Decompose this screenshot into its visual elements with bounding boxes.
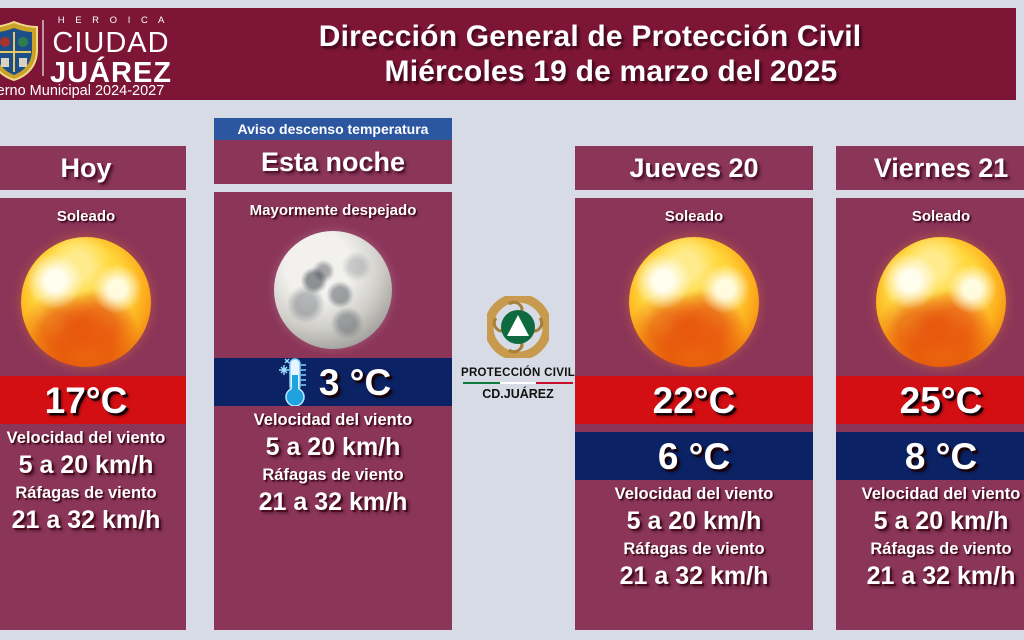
wind-gust-value: 21 a 32 km/h <box>836 561 1024 592</box>
forecast-card-title[interactable]: Jueves 20 <box>575 146 813 190</box>
card-gap <box>575 190 813 198</box>
sun-icon <box>876 237 1006 367</box>
low-temperature-band: 3 °C <box>214 358 452 406</box>
forecast-card-body: Mayormente despejado3 °CVelocidad del vi… <box>214 192 452 630</box>
moon-icon <box>274 231 392 349</box>
low-temperature-band: 8 °C <box>836 432 1024 480</box>
card-gap <box>836 190 1024 198</box>
weather-condition-label: Soleado <box>575 198 813 228</box>
forecast-card: HoySoleado17°CVelocidad del viento5 a 20… <box>0 146 186 630</box>
wind-info: Velocidad del viento5 a 20 km/hRáfagas d… <box>0 424 186 536</box>
mexican-flag-rule <box>463 382 573 384</box>
wind-speed-value: 5 a 20 km/h <box>836 506 1024 537</box>
flag-white <box>500 382 537 384</box>
wind-speed-value: 5 a 20 km/h <box>0 450 186 481</box>
wind-gust-label: Ráfagas de viento <box>214 463 452 487</box>
weather-condition-label: Soleado <box>836 198 1024 228</box>
high-temperature-band: 25°C <box>836 376 1024 424</box>
forecast-card-title[interactable]: Esta noche <box>214 140 452 184</box>
high-temperature-band: 17°C <box>0 376 186 424</box>
weather-icon-wrap <box>0 228 186 376</box>
wind-gust-value: 21 a 32 km/h <box>214 487 452 518</box>
low-temperature-value: 3 °C <box>319 364 391 401</box>
weather-icon-wrap <box>575 228 813 376</box>
header-title-line2: Miércoles 19 de marzo del 2025 <box>168 54 1012 89</box>
header-title: Dirección General de Protección Civil Mi… <box>168 19 1016 89</box>
wind-info: Velocidad del viento5 a 20 km/hRáfagas d… <box>836 480 1024 592</box>
temperature-drop-alert-badge: Aviso descenso temperatura <box>214 118 452 140</box>
low-temperature-value: 8 °C <box>905 438 977 475</box>
weather-icon-wrap <box>836 228 1024 376</box>
low-temperature-value: 6 °C <box>658 438 730 475</box>
sun-icon <box>629 237 759 367</box>
wind-gust-label: Ráfagas de viento <box>575 537 813 561</box>
city-brand: H E R O I C A CIUDAD JUÁREZ Gobierno Mun… <box>0 8 168 100</box>
brand-ciudad: CIUDAD <box>46 28 176 58</box>
flag-green <box>463 382 500 384</box>
proteccion-civil-logo: PROTECCIÓN CIVIL CD.JUÁREZ <box>455 296 581 402</box>
header-title-line1: Dirección General de Protección Civil <box>168 19 1012 54</box>
weather-condition-label: Mayormente despejado <box>214 192 452 222</box>
brand-heroica: H E R O I C A <box>46 14 176 28</box>
wind-gust-value: 21 a 32 km/h <box>575 561 813 592</box>
card-gap <box>0 190 186 198</box>
forecast-card-body: Soleado17°CVelocidad del viento5 a 20 km… <box>0 198 186 630</box>
forecast-card: Jueves 20Soleado22°C6 °CVelocidad del vi… <box>575 146 813 630</box>
forecast-card-title[interactable]: Hoy <box>0 146 186 190</box>
high-temperature-value: 17°C <box>45 382 128 419</box>
weather-condition-label: Soleado <box>0 198 186 228</box>
weather-icon-wrap <box>214 222 452 358</box>
page-header: H E R O I C A CIUDAD JUÁREZ Gobierno Mun… <box>0 8 1016 100</box>
forecast-card-title[interactable]: Viernes 21 <box>836 146 1024 190</box>
wind-speed-label: Velocidad del viento <box>575 482 813 506</box>
forecast-card: Viernes 21Soleado25°C8 °CVelocidad del v… <box>836 146 1024 630</box>
wind-gust-value: 21 a 32 km/h <box>0 505 186 536</box>
cold-thermometer-icon <box>275 358 313 406</box>
juarez-coat-of-arms-icon <box>0 20 42 82</box>
high-temperature-value: 22°C <box>653 382 736 419</box>
wind-gust-label: Ráfagas de viento <box>0 481 186 505</box>
high-temperature-band: 22°C <box>575 376 813 424</box>
proteccion-civil-emblem-icon <box>487 296 549 358</box>
wind-speed-label: Velocidad del viento <box>836 482 1024 506</box>
brand-government-line: Gobierno Municipal 2024-2027 <box>0 82 176 100</box>
card-gap <box>214 184 452 192</box>
brand-divider <box>42 20 44 76</box>
flag-red <box>536 382 573 384</box>
proteccion-civil-city: CD.JUÁREZ <box>455 386 581 402</box>
wind-speed-label: Velocidad del viento <box>0 426 186 450</box>
wind-speed-value: 5 a 20 km/h <box>214 432 452 463</box>
sun-icon <box>21 237 151 367</box>
brand-wordmark: H E R O I C A CIUDAD JUÁREZ <box>46 14 176 88</box>
wind-speed-value: 5 a 20 km/h <box>575 506 813 537</box>
forecast-card-body: Soleado25°C8 °CVelocidad del viento5 a 2… <box>836 198 1024 630</box>
proteccion-civil-name: PROTECCIÓN CIVIL <box>455 366 581 381</box>
forecast-card-body: Soleado22°C6 °CVelocidad del viento5 a 2… <box>575 198 813 630</box>
forecast-card: Aviso descenso temperaturaEsta nocheMayo… <box>214 118 452 630</box>
low-temperature-band: 6 °C <box>575 432 813 480</box>
wind-speed-label: Velocidad del viento <box>214 408 452 432</box>
wind-info: Velocidad del viento5 a 20 km/hRáfagas d… <box>575 480 813 592</box>
wind-gust-label: Ráfagas de viento <box>836 537 1024 561</box>
high-temperature-value: 25°C <box>900 382 983 419</box>
wind-info: Velocidad del viento5 a 20 km/hRáfagas d… <box>214 406 452 518</box>
